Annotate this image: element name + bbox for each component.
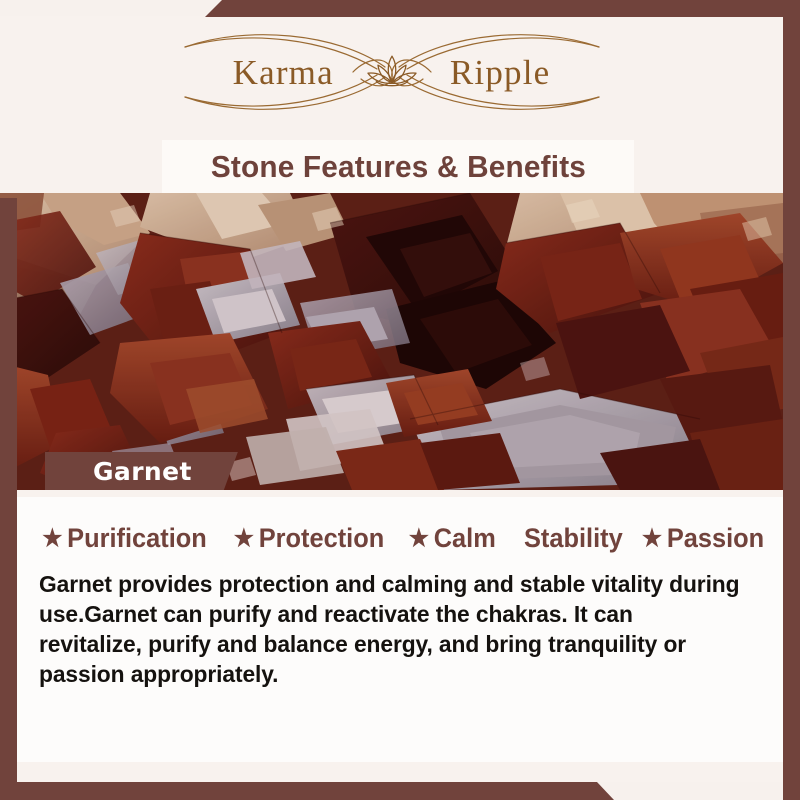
lotus-icon (364, 51, 420, 91)
stone-photo (0, 193, 783, 490)
brand-logo: Karma Ripple (0, 24, 783, 120)
benefit-item: ★ Purification (42, 523, 207, 554)
frame-bottom-band (0, 782, 800, 800)
benefit-label: Purification (67, 523, 207, 554)
benefit-label: Calm (434, 523, 496, 554)
brand-logo-inner: Karma Ripple (177, 27, 607, 117)
benefit-item: ★ Calm (409, 523, 496, 554)
brand-word-right: Ripple (450, 55, 551, 90)
stone-photo-art (0, 193, 783, 490)
frame-top-band (0, 0, 800, 17)
content-panel: ★ Purification ★ Protection ★ Calm Stabi… (17, 497, 783, 762)
garnet-crystal-illustration (0, 193, 783, 490)
benefit-keyword-list: ★ Purification ★ Protection ★ Calm Stabi… (35, 523, 770, 554)
star-icon: ★ (234, 527, 254, 551)
stone-name: Garnet (93, 457, 192, 486)
benefit-label: Passion (667, 523, 764, 554)
poster-canvas: Karma Ripple Stone Features & Benefits (0, 0, 800, 800)
frame-right-band (783, 0, 800, 800)
brand-word-left: Karma (233, 55, 334, 90)
stone-description: Garnet provides protection and calming a… (39, 569, 741, 689)
star-icon: ★ (642, 527, 662, 551)
benefit-item: ★ Passion (642, 523, 764, 554)
benefit-item: ★ Protection (234, 523, 384, 554)
benefit-item: Stability (519, 523, 622, 554)
benefit-label: Protection (259, 523, 385, 554)
frame-left-band (0, 198, 17, 800)
benefit-label: Stability (524, 523, 623, 554)
page-title: Stone Features & Benefits (210, 149, 585, 185)
star-icon: ★ (409, 527, 429, 551)
stone-name-banner: Garnet (45, 452, 238, 490)
title-plate: Stone Features & Benefits (162, 140, 634, 193)
star-icon: ★ (42, 527, 62, 551)
